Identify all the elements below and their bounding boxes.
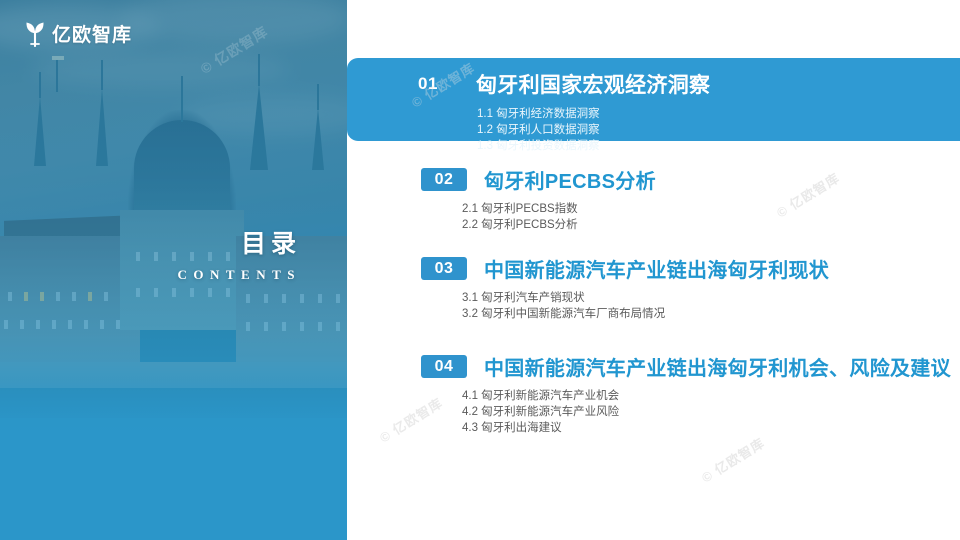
section-subitem[interactable]: 2.2 匈牙利PECBS分析 [462, 217, 960, 233]
cover-panel: 亿欧智库 目录 CONTENTS © 亿欧智库 [0, 0, 347, 540]
section-header: 01 匈牙利国家宏观经济洞察 [347, 69, 960, 99]
cover-title: 目录 CONTENTS [177, 232, 301, 283]
section-subitems: 2.1 匈牙利PECBS指数 2.2 匈牙利PECBS分析 [462, 201, 960, 233]
section-subitem[interactable]: 3.1 匈牙利汽车产销现状 [462, 290, 960, 306]
section-number-badge: 02 [421, 168, 467, 191]
section-subitem[interactable]: 4.1 匈牙利新能源汽车产业机会 [462, 388, 960, 404]
section-subitem[interactable]: 1.1 匈牙利经济数据洞察 [477, 106, 960, 122]
section-number-badge: 04 [421, 355, 467, 378]
section-subitem[interactable]: 1.3 匈牙利投资数据洞察 [477, 138, 960, 154]
section-title: 匈牙利PECBS分析 [484, 165, 656, 194]
section-subitems: 1.1 匈牙利经济数据洞察 1.2 匈牙利人口数据洞察 1.3 匈牙利投资数据洞… [477, 106, 960, 154]
section-subitem[interactable]: 4.2 匈牙利新能源汽车产业风险 [462, 404, 960, 420]
section-number-badge: 03 [421, 257, 467, 280]
contents-section-03[interactable]: 03 中国新能源汽车产业链出海匈牙利现状 3.1 匈牙利汽车产销现状 3.2 匈… [347, 254, 960, 322]
contents-section-01[interactable]: 01 匈牙利国家宏观经济洞察 1.1 匈牙利经济数据洞察 1.2 匈牙利人口数据… [347, 58, 960, 141]
section-title: 匈牙利国家宏观经济洞察 [476, 69, 710, 99]
contents-section-04[interactable]: 04 中国新能源汽车产业链出海匈牙利机会、风险及建议 4.1 匈牙利新能源汽车产… [347, 352, 960, 436]
section-subitem[interactable]: 4.3 匈牙利出海建议 [462, 420, 960, 436]
section-title: 中国新能源汽车产业链出海匈牙利现状 [484, 254, 829, 283]
sprout-y-logo-icon [24, 21, 46, 47]
section-subitem[interactable]: 3.2 匈牙利中国新能源汽车厂商布局情况 [462, 306, 960, 322]
cover-title-en: CONTENTS [177, 267, 301, 283]
section-header: 04 中国新能源汽车产业链出海匈牙利机会、风险及建议 [347, 352, 960, 381]
section-header: 02 匈牙利PECBS分析 [347, 165, 960, 194]
section-subitem[interactable]: 2.1 匈牙利PECBS指数 [462, 201, 960, 217]
contents-panel: 01 匈牙利国家宏观经济洞察 1.1 匈牙利经济数据洞察 1.2 匈牙利人口数据… [347, 0, 960, 540]
section-number-badge: 01 [418, 73, 464, 96]
watermark: © 亿欧智库 [697, 433, 767, 487]
section-header: 03 中国新能源汽车产业链出海匈牙利现状 [347, 254, 960, 283]
cover-title-cn: 目录 [177, 232, 301, 257]
brand-logo: 亿欧智库 [24, 20, 132, 47]
contents-section-02[interactable]: 02 匈牙利PECBS分析 2.1 匈牙利PECBS指数 2.2 匈牙利PECB… [347, 165, 960, 233]
section-subitem[interactable]: 1.2 匈牙利人口数据洞察 [477, 122, 960, 138]
brand-logo-text: 亿欧智库 [52, 20, 132, 47]
section-subitems: 3.1 匈牙利汽车产销现状 3.2 匈牙利中国新能源汽车厂商布局情况 [462, 290, 960, 322]
section-title: 中国新能源汽车产业链出海匈牙利机会、风险及建议 [484, 352, 951, 381]
section-subitems: 4.1 匈牙利新能源汽车产业机会 4.2 匈牙利新能源汽车产业风险 4.3 匈牙… [462, 388, 960, 436]
